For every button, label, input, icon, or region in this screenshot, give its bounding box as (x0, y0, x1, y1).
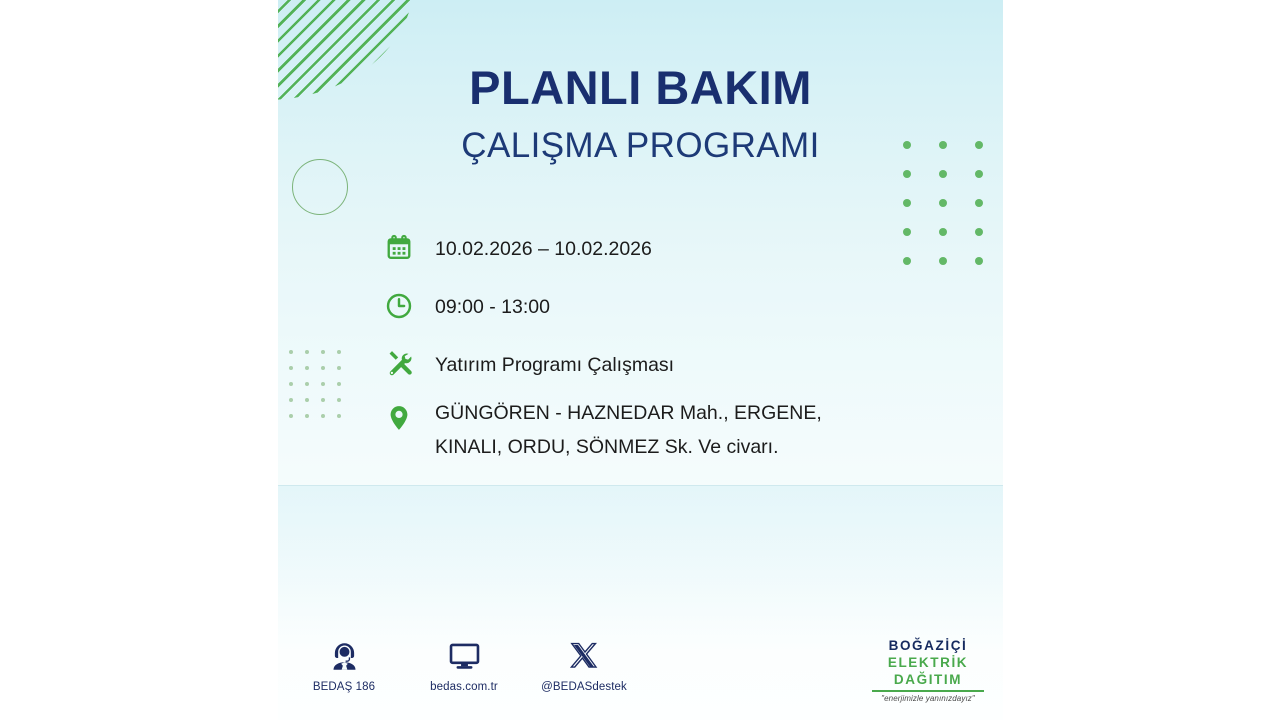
location-line-1: GÜNGÖREN - HAZNEDAR Mah., ERGENE, (435, 397, 822, 431)
page-subtitle: ÇALIŞMA PROGRAMI (278, 128, 1003, 163)
dot (305, 382, 309, 386)
work-type-value: Yatırım Programı Çalışması (419, 344, 674, 383)
dot (305, 366, 309, 370)
dot (321, 398, 325, 402)
location-pin-icon (379, 398, 419, 438)
dot (975, 170, 983, 178)
outage-date-value: 10.02.2026 – 10.02.2026 (419, 228, 652, 267)
dot-grid-left-decoration (289, 350, 353, 430)
calendar-icon (379, 228, 419, 268)
dot (337, 382, 341, 386)
info-row-work-type: Yatırım Programı Çalışması (379, 344, 979, 384)
outage-info-list: 10.02.2026 – 10.02.2026 09:00 - 13:00 (379, 228, 979, 478)
clock-icon (379, 286, 419, 326)
dot (305, 398, 309, 402)
info-row-time: 09:00 - 13:00 (379, 286, 979, 326)
x-twitter-icon (569, 636, 599, 676)
dot (321, 382, 325, 386)
dot (289, 366, 293, 370)
location-value: GÜNGÖREN - HAZNEDAR Mah., ERGENE, KINALI… (419, 396, 822, 464)
dot (337, 350, 341, 354)
dot (321, 414, 325, 418)
dot (975, 199, 983, 207)
footer: BEDAŞ 186 bedas.com.tr (278, 636, 1003, 712)
logo-tagline: "enerjimizle yanınızdayız" (868, 694, 988, 703)
dot (337, 414, 341, 418)
dot (289, 414, 293, 418)
contact-phone-label: BEDAŞ 186 (313, 681, 375, 693)
location-line-2: KINALI, ORDU, SÖNMEZ Sk. Ve civarı. (435, 431, 822, 465)
info-row-location: GÜNGÖREN - HAZNEDAR Mah., ERGENE, KINALI… (379, 396, 979, 464)
dot (321, 350, 325, 354)
tools-icon (379, 344, 419, 384)
dot (903, 170, 911, 178)
dot (337, 366, 341, 370)
logo-line-2: ELEKTRİK (868, 654, 988, 671)
contact-website-label: bedas.com.tr (430, 681, 498, 693)
dot (939, 170, 947, 178)
contact-phone[interactable]: BEDAŞ 186 (304, 636, 384, 693)
contact-website[interactable]: bedas.com.tr (424, 636, 504, 693)
info-row-date: 10.02.2026 – 10.02.2026 (379, 228, 979, 268)
dot (903, 199, 911, 207)
logo-line-1: BOĞAZİÇİ (868, 637, 988, 654)
poster-card: PLANLI BAKIM ÇALIŞMA PROGRAMI (278, 0, 1003, 720)
page-title: PLANLI BAKIM (278, 64, 1003, 111)
contact-x-label: @BEDASdestek (541, 681, 627, 693)
dot (289, 382, 293, 386)
logo-line-3: DAĞITIM (868, 671, 988, 688)
heading-block: PLANLI BAKIM ÇALIŞMA PROGRAMI (278, 64, 1003, 163)
dot (321, 366, 325, 370)
contact-channels: BEDAŞ 186 bedas.com.tr (304, 636, 624, 693)
dot (289, 350, 293, 354)
circle-outline-decoration (292, 159, 348, 215)
dot (337, 398, 341, 402)
section-divider (278, 485, 1003, 486)
dot (939, 199, 947, 207)
bedas-logo: BOĞAZİÇİ ELEKTRİK DAĞITIM "enerjimizle y… (868, 637, 988, 703)
monitor-icon (447, 636, 482, 676)
logo-underline (872, 690, 984, 692)
call-center-agent-icon (328, 636, 361, 676)
dot (305, 350, 309, 354)
dot (289, 398, 293, 402)
outage-time-value: 09:00 - 13:00 (419, 286, 550, 325)
contact-x[interactable]: @BEDASdestek (544, 636, 624, 693)
dot (305, 414, 309, 418)
poster-stage: PLANLI BAKIM ÇALIŞMA PROGRAMI (0, 0, 1280, 720)
